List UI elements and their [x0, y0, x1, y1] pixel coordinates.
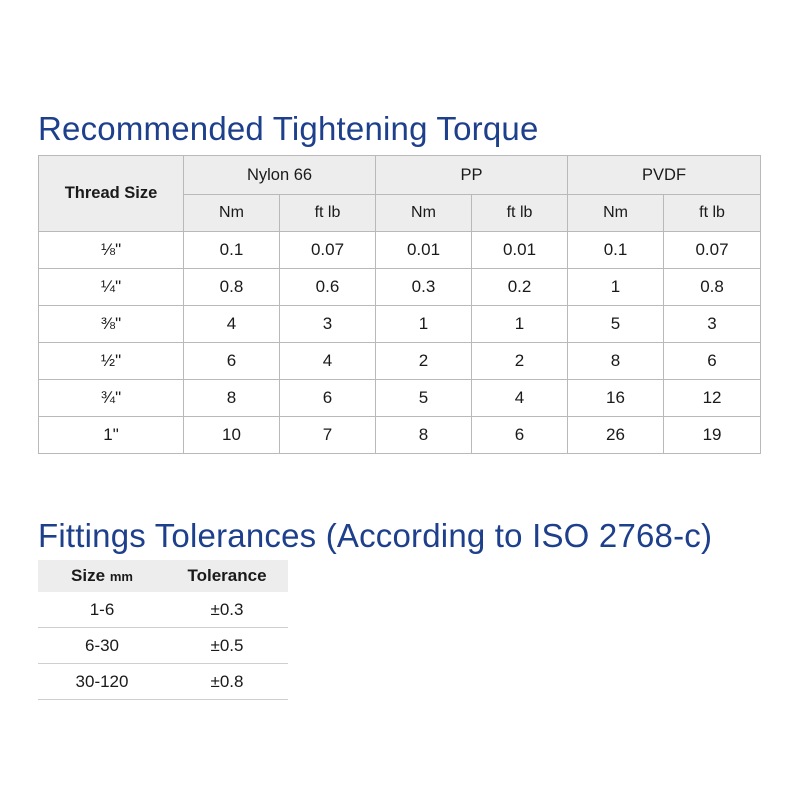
- column-header-pp-ftlb: ft lb: [472, 195, 568, 232]
- torque-table-container: Thread Size Nylon 66 PP PVDF Nm ft lb Nm…: [38, 155, 760, 454]
- table-row: 1-6 ±0.3: [38, 592, 288, 628]
- cell-size: 30-120: [38, 664, 166, 700]
- cell-pp-nm: 5: [376, 380, 472, 417]
- cell-thread-size: ⅛": [39, 232, 184, 269]
- tolerance-table-body: 1-6 ±0.3 6-30 ±0.5 30-120 ±0.8: [38, 592, 288, 700]
- cell-thread-size: 1": [39, 417, 184, 454]
- cell-thread-size: ¼": [39, 269, 184, 306]
- column-header-tolerance: Tolerance: [166, 560, 288, 592]
- cell-pvdf-ftlb: 0.07: [664, 232, 761, 269]
- cell-pvdf-nm: 26: [568, 417, 664, 454]
- column-header-nylon66-ftlb: ft lb: [280, 195, 376, 232]
- cell-pvdf-nm: 0.1: [568, 232, 664, 269]
- cell-pp-nm: 8: [376, 417, 472, 454]
- fittings-tolerances-table: Size mm Tolerance 1-6 ±0.3 6-30 ±0.5 30-…: [38, 560, 288, 700]
- table-row: 1" 10 7 8 6 26 19: [39, 417, 761, 454]
- column-group-nylon66: Nylon 66: [184, 156, 376, 195]
- cell-pvdf-ftlb: 19: [664, 417, 761, 454]
- cell-pvdf-ftlb: 0.8: [664, 269, 761, 306]
- tolerance-table-head: Size mm Tolerance: [38, 560, 288, 592]
- cell-pp-nm: 1: [376, 306, 472, 343]
- table-row: 6-30 ±0.5: [38, 628, 288, 664]
- cell-thread-size: ⅜": [39, 306, 184, 343]
- column-header-nylon66-nm: Nm: [184, 195, 280, 232]
- cell-pp-ftlb: 0.2: [472, 269, 568, 306]
- cell-pp-ftlb: 1: [472, 306, 568, 343]
- cell-thread-size: ½": [39, 343, 184, 380]
- document-page: Recommended Tightening Torque Thread Siz…: [0, 0, 798, 800]
- cell-pp-nm: 2: [376, 343, 472, 380]
- cell-pp-ftlb: 2: [472, 343, 568, 380]
- table-row: ¾" 8 6 5 4 16 12: [39, 380, 761, 417]
- column-header-size: Size mm: [38, 560, 166, 592]
- cell-nylon66-nm: 10: [184, 417, 280, 454]
- cell-nylon66-ftlb: 4: [280, 343, 376, 380]
- table-row: ¼" 0.8 0.6 0.3 0.2 1 0.8: [39, 269, 761, 306]
- cell-nylon66-nm: 4: [184, 306, 280, 343]
- cell-pp-ftlb: 4: [472, 380, 568, 417]
- column-header-thread-size: Thread Size: [39, 156, 184, 232]
- torque-table-head: Thread Size Nylon 66 PP PVDF Nm ft lb Nm…: [39, 156, 761, 232]
- table-row: 30-120 ±0.8: [38, 664, 288, 700]
- torque-section-heading: Recommended Tightening Torque: [38, 110, 539, 148]
- cell-pvdf-nm: 16: [568, 380, 664, 417]
- torque-table-body: ⅛" 0.1 0.07 0.01 0.01 0.1 0.07 ¼" 0.8 0.…: [39, 232, 761, 454]
- cell-nylon66-ftlb: 0.07: [280, 232, 376, 269]
- cell-pvdf-nm: 5: [568, 306, 664, 343]
- cell-tolerance: ±0.3: [166, 592, 288, 628]
- table-row: ⅛" 0.1 0.07 0.01 0.01 0.1 0.07: [39, 232, 761, 269]
- cell-pp-ftlb: 0.01: [472, 232, 568, 269]
- cell-size: 6-30: [38, 628, 166, 664]
- cell-pvdf-ftlb: 6: [664, 343, 761, 380]
- table-row: ⅜" 4 3 1 1 5 3: [39, 306, 761, 343]
- cell-nylon66-ftlb: 6: [280, 380, 376, 417]
- cell-nylon66-nm: 0.8: [184, 269, 280, 306]
- cell-nylon66-nm: 0.1: [184, 232, 280, 269]
- column-header-pp-nm: Nm: [376, 195, 472, 232]
- table-row: ½" 6 4 2 2 8 6: [39, 343, 761, 380]
- cell-nylon66-ftlb: 7: [280, 417, 376, 454]
- cell-nylon66-ftlb: 0.6: [280, 269, 376, 306]
- torque-header-group-row: Thread Size Nylon 66 PP PVDF: [39, 156, 761, 195]
- cell-nylon66-nm: 6: [184, 343, 280, 380]
- cell-pvdf-nm: 1: [568, 269, 664, 306]
- cell-tolerance: ±0.8: [166, 664, 288, 700]
- cell-pp-nm: 0.01: [376, 232, 472, 269]
- column-header-size-label: Size: [71, 566, 105, 585]
- cell-nylon66-ftlb: 3: [280, 306, 376, 343]
- cell-pp-ftlb: 6: [472, 417, 568, 454]
- cell-nylon66-nm: 8: [184, 380, 280, 417]
- column-group-pvdf: PVDF: [568, 156, 761, 195]
- column-header-pvdf-nm: Nm: [568, 195, 664, 232]
- recommended-tightening-torque-table: Thread Size Nylon 66 PP PVDF Nm ft lb Nm…: [38, 155, 761, 454]
- column-header-pvdf-ftlb: ft lb: [664, 195, 761, 232]
- column-group-pp: PP: [376, 156, 568, 195]
- column-header-size-unit: mm: [110, 569, 133, 584]
- cell-tolerance: ±0.5: [166, 628, 288, 664]
- tolerance-section-heading: Fittings Tolerances (According to ISO 27…: [38, 517, 712, 555]
- cell-size: 1-6: [38, 592, 166, 628]
- cell-thread-size: ¾": [39, 380, 184, 417]
- cell-pvdf-nm: 8: [568, 343, 664, 380]
- tolerance-table-container: Size mm Tolerance 1-6 ±0.3 6-30 ±0.5 30-…: [38, 560, 288, 700]
- tolerance-header-row: Size mm Tolerance: [38, 560, 288, 592]
- cell-pp-nm: 0.3: [376, 269, 472, 306]
- cell-pvdf-ftlb: 3: [664, 306, 761, 343]
- cell-pvdf-ftlb: 12: [664, 380, 761, 417]
